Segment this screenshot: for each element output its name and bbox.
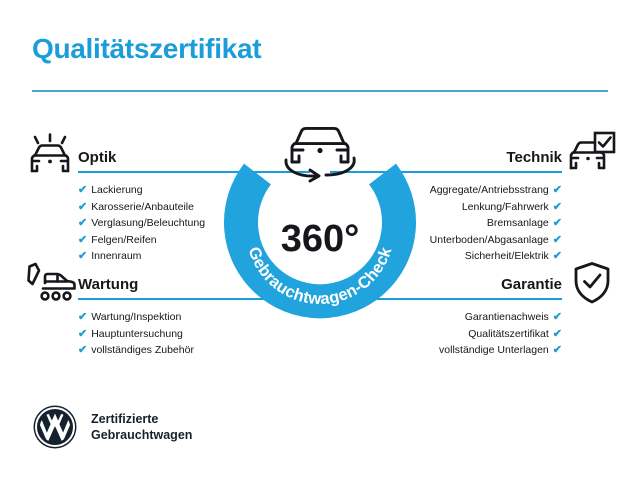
list-item-label: Verglasung/Beleuchtung — [91, 217, 205, 229]
section-title-wartung: Wartung — [78, 276, 138, 293]
list-item-label: Unterboden/Abgasanlage — [430, 234, 549, 246]
certificate-page: Qualitätszertifikat Optik — [0, 0, 640, 480]
list-item: vollständige Unterlagen✔ — [330, 342, 562, 359]
check-icon: ✔ — [78, 184, 87, 196]
footer-line-2: Gebrauchtwagen — [91, 427, 192, 443]
list-item-label: Lackierung — [91, 184, 142, 196]
section-title-garantie: Garantie — [501, 276, 562, 293]
footer-line-1: Zertifizierte — [91, 411, 192, 427]
list-item-label: Hauptuntersuchung — [91, 328, 183, 340]
page-title: Qualitätszertifikat — [32, 33, 261, 65]
list-item-label: vollständiges Zubehör — [91, 344, 194, 356]
list-item-label: vollständige Unterlagen — [439, 344, 549, 356]
title-divider — [32, 90, 608, 92]
list-item-label: Garantienachweis — [465, 311, 549, 323]
list-item-label: Felgen/Reifen — [91, 234, 156, 246]
shield-check-icon — [572, 261, 612, 310]
car-checkbox-icon — [568, 131, 616, 180]
badge-center-label: 360° — [281, 218, 360, 260]
check-icon: ✔ — [553, 311, 562, 323]
check-icon: ✔ — [553, 344, 562, 356]
check-icon: ✔ — [553, 201, 562, 213]
check-icon: ✔ — [553, 328, 562, 340]
pen-car-service-icon — [26, 262, 78, 311]
list-item: ✔vollständiges Zubehör — [78, 342, 310, 359]
check-icon: ✔ — [553, 184, 562, 196]
list-item-label: Bremsanlage — [487, 217, 549, 229]
check-icon: ✔ — [78, 328, 87, 340]
check-icon: ✔ — [553, 234, 562, 246]
list-item-label: Qualitätszertifikat — [468, 328, 549, 340]
car-shine-icon — [26, 133, 74, 182]
check-icon: ✔ — [553, 217, 562, 229]
list-item-label: Sicherheit/Elektrik — [465, 250, 549, 262]
check-icon: ✔ — [78, 217, 87, 229]
section-title-technik: Technik — [506, 149, 562, 166]
badge-360-gebrauchtwagen-check: 360° Gebrauchtwagen-Check — [224, 112, 416, 320]
footer-branding: Zertifizierte Gebrauchtwagen — [32, 404, 192, 450]
list-item-label: Lenkung/Fahrwerk — [462, 201, 549, 213]
check-icon: ✔ — [78, 234, 87, 246]
list-item: ✔Hauptuntersuchung — [78, 326, 310, 343]
list-item-label: Innenraum — [91, 250, 141, 262]
check-icon: ✔ — [78, 311, 87, 323]
list-item-label: Wartung/Inspektion — [91, 311, 181, 323]
check-icon: ✔ — [78, 250, 87, 262]
volkswagen-logo — [32, 404, 78, 450]
section-title-optik: Optik — [78, 149, 116, 166]
check-icon: ✔ — [78, 201, 87, 213]
list-item: Qualitätszertifikat✔ — [330, 326, 562, 343]
list-item-label: Aggregate/Antriebsstrang — [430, 184, 549, 196]
car-rotation-icon — [286, 128, 354, 181]
list-item-label: Karosserie/Anbauteile — [91, 201, 194, 213]
check-icon: ✔ — [553, 250, 562, 262]
footer-text: Zertifizierte Gebrauchtwagen — [91, 411, 192, 443]
check-icon: ✔ — [78, 344, 87, 356]
